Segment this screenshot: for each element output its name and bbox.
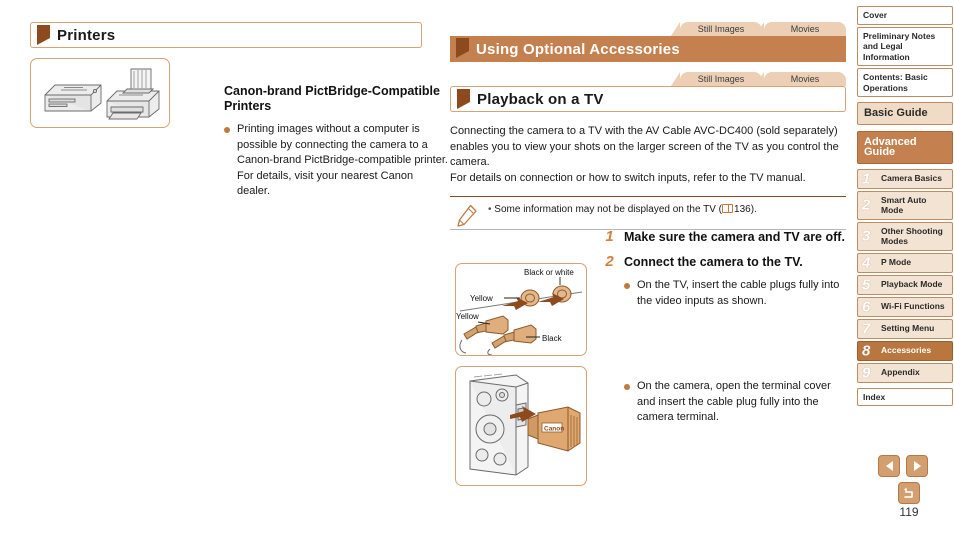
av-cable-illustration: Black or white Yellow Yellow Black [456, 264, 586, 355]
topic-heading: Playback on a TV [450, 86, 846, 112]
sidebar-item-basic-guide[interactable]: Basic Guide [857, 102, 953, 125]
printer-illustration-box [30, 58, 170, 128]
sidebar-item-label: Contents: Basic Operations [863, 72, 947, 93]
note-block: • Some information may not be displayed … [450, 197, 846, 227]
sidebar-item-other-shooting-modes[interactable]: 3 Other Shooting Modes [857, 222, 953, 251]
chapter-number: 4 [862, 255, 870, 270]
sidebar-item-label: Wi-Fi Functions [881, 301, 945, 312]
note-text-before: Some information may not be displayed on… [494, 204, 722, 215]
plug-canon-label: Canon [544, 426, 564, 433]
center-column: Still Images Movies Using Optional Acces… [450, 22, 846, 230]
note-text-after: ). [751, 204, 757, 215]
sidebar-item-label: Cover [863, 10, 887, 21]
sidebar-item-label: Camera Basics [881, 173, 942, 184]
printers-heading-label: Printers [57, 27, 115, 44]
sidebar-item-label: Playback Mode [881, 279, 942, 290]
heading-tab-icon [37, 25, 50, 38]
label-yellow-top: Yellow [470, 294, 493, 303]
sidebar-item-wifi-functions[interactable]: 6 Wi-Fi Functions [857, 297, 953, 317]
triangle-right-icon [912, 460, 923, 472]
sidebar-item-label: Preliminary Notes and Legal Information [863, 31, 947, 63]
list-item: On the camera, open the terminal cover a… [624, 379, 846, 426]
chapter-number: 2 [862, 198, 870, 213]
section-heading-label: Using Optional Accessories [476, 41, 680, 58]
sidebar-item-p-mode[interactable]: 4 P Mode [857, 253, 953, 273]
sidebar-item-smart-auto-mode[interactable]: 2 Smart Auto Mode [857, 191, 953, 220]
step-1-title: Make sure the camera and TV are off. [624, 229, 845, 245]
step-1: 1 Make sure the camera and TV are off. [604, 229, 846, 245]
sidebar-item-setting-menu[interactable]: 7 Setting Menu [857, 319, 953, 339]
sidebar-item-label: Index [863, 392, 885, 403]
label-yellow-left: Yellow [456, 312, 479, 321]
intro-paragraph-2: For details on connection or how to swit… [450, 171, 846, 187]
label-black-or-white: Black or white [524, 268, 574, 277]
sidebar-item-cover[interactable]: Cover [857, 6, 953, 25]
back-button[interactable] [898, 482, 920, 504]
label-black: Black [542, 334, 563, 343]
chapter-number: 9 [862, 365, 870, 380]
sidebar-item-label: P Mode [881, 257, 911, 268]
note-text: • Some information may not be displayed … [488, 203, 846, 217]
chapter-number: 7 [862, 321, 870, 336]
sidebar-item-accessories[interactable]: 8 Accessories [857, 341, 953, 361]
manual-page: Printers [0, 0, 954, 534]
intro-paragraph-1: Connecting the camera to a TV with the A… [450, 124, 846, 171]
step-2-title: Connect the camera to the TV. [624, 254, 803, 270]
tab-still-images: Still Images [680, 22, 762, 36]
sidebar-item-preliminary-notes[interactable]: Preliminary Notes and Legal Information [857, 27, 953, 67]
step-2-bullets-second: On the camera, open the terminal cover a… [624, 379, 846, 426]
previous-page-button[interactable] [878, 455, 900, 477]
sidebar-item-appendix[interactable]: 9 Appendix [857, 363, 953, 383]
topic-heading-tab-icon [457, 89, 470, 102]
steps-list: 1 Make sure the camera and TV are off. 2… [604, 229, 846, 430]
sidebar-item-index[interactable]: Index [857, 388, 953, 407]
topic-tab-movies: Movies [764, 72, 846, 86]
sidebar-item-playback-mode[interactable]: 5 Playback Mode [857, 275, 953, 295]
sidebar-item-label: Accessories [881, 345, 931, 356]
triangle-left-icon [884, 460, 895, 472]
step-2-bullets: On the TV, insert the cable plugs fully … [624, 278, 846, 309]
list-item: On the TV, insert the cable plugs fully … [624, 278, 846, 309]
page-number: 119 [878, 505, 940, 519]
printers-illustration [31, 59, 169, 127]
sidebar-item-contents[interactable]: Contents: Basic Operations [857, 68, 953, 97]
chapter-number: 3 [862, 229, 870, 244]
section-heading-tab-icon [456, 38, 469, 51]
note-page-ref: 136 [734, 204, 751, 215]
page-navigation-controls [878, 455, 940, 504]
section-heading: Using Optional Accessories [450, 36, 846, 62]
next-page-button[interactable] [906, 455, 928, 477]
left-column: Printers [30, 22, 422, 128]
topic-tab-still-images: Still Images [680, 72, 762, 86]
topic-heading-label: Playback on a TV [477, 91, 604, 108]
step-2: 2 Connect the camera to the TV. [604, 254, 846, 270]
section-mode-tabs: Still Images Movies [450, 22, 846, 36]
sidebar-item-label: Smart Auto Mode [881, 195, 947, 216]
sidebar-item-label: Appendix [881, 367, 920, 378]
sidebar-navigation: Cover Preliminary Notes and Legal Inform… [857, 6, 953, 408]
sidebar-item-label: Other Shooting Modes [881, 226, 947, 247]
cable-figure: Black or white Yellow Yellow Black [455, 263, 587, 356]
printers-bullet-list: Printing images without a computer is po… [224, 122, 448, 200]
sidebar-item-label: Setting Menu [881, 323, 934, 334]
chapter-number: 1 [862, 171, 870, 186]
return-arrow-icon [902, 486, 916, 500]
tab-movies: Movies [764, 22, 846, 36]
step-1-number: 1 [604, 229, 615, 245]
sidebar-item-label: Basic Guide [864, 108, 928, 119]
camera-terminal-illustration: Canon [456, 367, 586, 485]
printers-heading: Printers [30, 22, 422, 48]
note-bullet: • [488, 204, 492, 215]
chapter-number: 5 [862, 277, 870, 292]
printers-subtitle: Canon-brand PictBridge-Compatible Printe… [224, 84, 448, 114]
list-item: Printing images without a computer is po… [224, 122, 448, 200]
book-page-reference-icon [722, 204, 733, 213]
camera-figure: Canon [455, 366, 587, 486]
pencil-icon [456, 204, 478, 228]
sidebar-item-label: Advanced Guide [864, 137, 946, 158]
printers-text-block: Canon-brand PictBridge-Compatible Printe… [224, 84, 448, 204]
sidebar-item-advanced-guide[interactable]: Advanced Guide [857, 131, 953, 164]
topic-mode-tabs: Still Images Movies [450, 72, 846, 86]
step-2-number: 2 [604, 254, 615, 270]
sidebar-item-camera-basics[interactable]: 1 Camera Basics [857, 169, 953, 189]
chapter-number: 8 [862, 343, 870, 358]
chapter-number: 6 [862, 299, 870, 314]
